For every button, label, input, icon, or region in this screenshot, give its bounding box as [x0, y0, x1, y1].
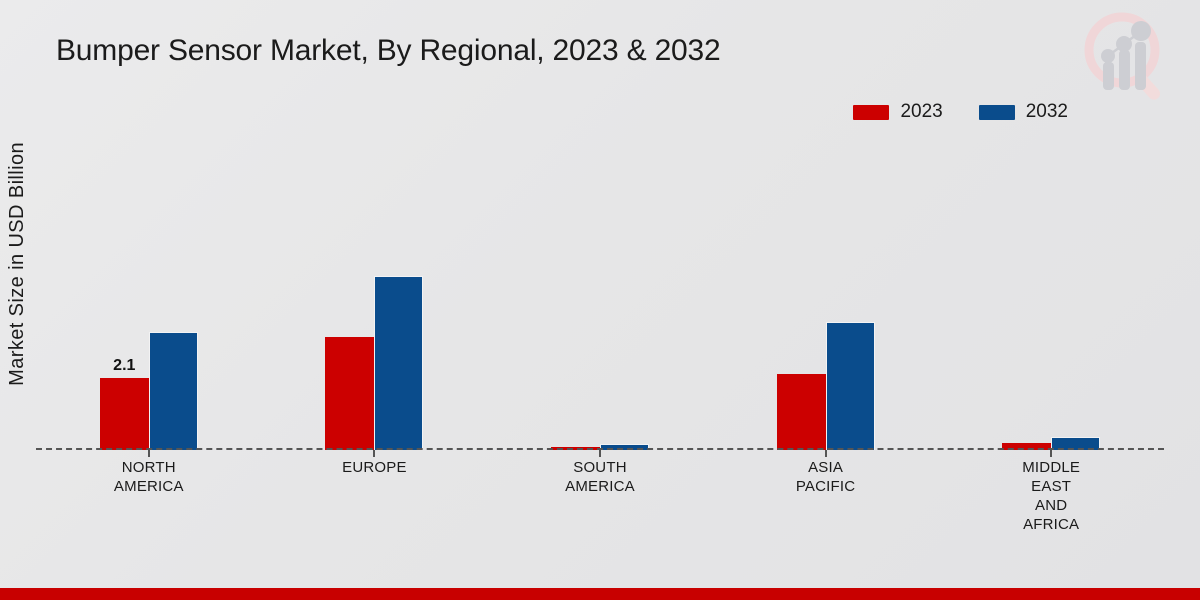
label-line: SOUTH — [487, 458, 713, 477]
bars — [777, 140, 875, 450]
y-axis-title: Market Size in USD Billion — [2, 142, 32, 464]
bar-groups: 2.1 — [36, 140, 1164, 450]
bar-group-middle-east-and-africa — [938, 140, 1164, 450]
x-axis-label-asia-pacific: ASIA PACIFIC — [713, 458, 939, 534]
bar-group-europe — [262, 140, 488, 450]
label-line: EUROPE — [262, 458, 488, 477]
bars — [1002, 140, 1100, 450]
label-line: NORTH — [36, 458, 262, 477]
label-line: AMERICA — [36, 477, 262, 496]
label-line: AFRICA — [938, 515, 1164, 534]
x-axis-labels: NORTH AMERICA EUROPE SOUTH AMERICA ASIA … — [36, 458, 1164, 534]
bar-group-south-america — [487, 140, 713, 450]
chart-container: Bumper Sensor Market, By Regional, 2023 … — [0, 0, 1200, 600]
plot-area: 2.1 — [36, 140, 1164, 450]
x-axis-tick — [148, 450, 150, 457]
bar-north-america-2023[interactable]: 2.1 — [100, 378, 149, 450]
page-title: Bumper Sensor Market, By Regional, 2023 … — [56, 34, 721, 68]
bar-asia-pacific-2032[interactable] — [826, 322, 875, 450]
watermark-logo-icon — [1070, 6, 1180, 110]
bar-group-north-america: 2.1 — [36, 140, 262, 450]
bar-europe-2023[interactable] — [325, 337, 374, 450]
legend-label-2023: 2023 — [900, 101, 942, 123]
legend-label-2032: 2032 — [1026, 101, 1068, 123]
x-axis-label-north-america: NORTH AMERICA — [36, 458, 262, 534]
bars — [551, 140, 649, 450]
label-line: EAST — [938, 477, 1164, 496]
label-line: PACIFIC — [713, 477, 939, 496]
label-line: AMERICA — [487, 477, 713, 496]
bars — [325, 140, 423, 450]
legend-swatch-2032 — [979, 105, 1015, 120]
x-axis-tick — [373, 450, 375, 457]
bar-asia-pacific-2023[interactable] — [777, 374, 826, 450]
bar-europe-2032[interactable] — [374, 276, 423, 450]
bar-group-asia-pacific — [713, 140, 939, 450]
legend-item-2023[interactable]: 2023 — [853, 101, 942, 123]
bar-value-label: 2.1 — [113, 357, 135, 375]
footer-accent-strip — [0, 588, 1200, 600]
x-axis-baseline — [36, 448, 1164, 450]
x-axis-label-south-america: SOUTH AMERICA — [487, 458, 713, 534]
label-line: MIDDLE — [938, 458, 1164, 477]
label-line: ASIA — [713, 458, 939, 477]
x-axis-label-europe: EUROPE — [262, 458, 488, 534]
x-axis-label-middle-east-and-africa: MIDDLE EAST AND AFRICA — [938, 458, 1164, 534]
chart-legend: 2023 2032 — [853, 101, 1068, 123]
y-axis-title-text: Market Size in USD Billion — [6, 142, 29, 386]
legend-swatch-2023 — [853, 105, 889, 120]
x-axis-tick — [1050, 450, 1052, 457]
bar-north-america-2032[interactable] — [149, 332, 198, 450]
x-axis-tick — [825, 450, 827, 457]
x-axis-tick — [599, 450, 601, 457]
bars: 2.1 — [100, 140, 198, 450]
legend-item-2032[interactable]: 2032 — [979, 101, 1068, 123]
label-line: AND — [938, 496, 1164, 515]
